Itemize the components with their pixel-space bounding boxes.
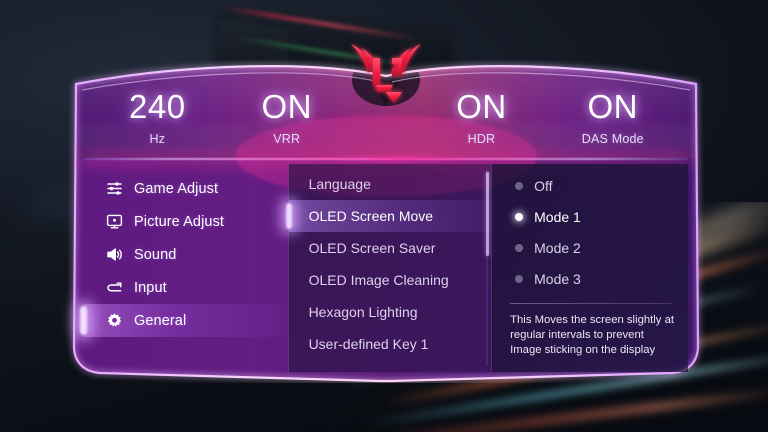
sidebar-item-input[interactable]: Input: [84, 271, 288, 304]
option-description-line: regular intervals to prevent: [510, 328, 674, 343]
option-label: Off: [534, 178, 552, 194]
sidebar-item-label: Game Adjust: [134, 181, 218, 197]
speaker-icon: [106, 246, 123, 263]
screenshot-root: 240 Hz ON VRR ON HDR ON DAS Mode: [0, 0, 768, 432]
status-value: 240: [92, 90, 223, 123]
plug-icon: [106, 279, 123, 296]
option-label: Mode 2: [534, 240, 581, 256]
sidebar-item-label: Sound: [134, 247, 176, 263]
sidebar-item-game-adjust[interactable]: Game Adjust: [84, 172, 288, 205]
monitor-icon: [106, 213, 123, 230]
list-item-label: OLED Screen Move: [309, 208, 434, 224]
option-mode-3[interactable]: Mode 3: [492, 263, 688, 294]
list-item[interactable]: OLED Image Cleaning: [289, 264, 492, 296]
options-panel: Off Mode 1 Mode 2 Mode 3: [491, 164, 688, 372]
sidebar-item-label: Picture Adjust: [134, 214, 224, 230]
list-item-label: User-defined Key 1: [309, 336, 429, 352]
status-label: HDR: [417, 132, 545, 146]
status-item-das-mode: ON DAS Mode: [546, 76, 681, 146]
sidebar-item-label: Input: [134, 280, 167, 296]
status-divider: [84, 158, 688, 160]
sidebar: Game Adjust Picture Adjust: [84, 164, 288, 372]
list-item-label: OLED Image Cleaning: [309, 272, 449, 288]
option-off[interactable]: Off: [492, 170, 688, 201]
status-value: ON: [417, 90, 545, 123]
osd-panel: 240 Hz ON VRR ON HDR ON DAS Mode: [62, 60, 710, 383]
option-label: Mode 3: [534, 271, 581, 287]
radio-icon: [515, 182, 523, 190]
list-item[interactable]: Language: [289, 168, 492, 200]
gear-icon: [106, 312, 123, 329]
sidebar-item-picture-adjust[interactable]: Picture Adjust: [84, 205, 288, 238]
status-value: ON: [546, 90, 681, 123]
sidebar-item-label: General: [134, 313, 186, 329]
option-description-line: Image sticking on the display: [510, 343, 674, 358]
status-item-vrr: ON VRR: [223, 76, 351, 146]
option-description-line: This Moves the screen slightly at: [510, 313, 674, 328]
list-item[interactable]: OLED Screen Move: [289, 200, 492, 232]
list-item[interactable]: User-defined Key 1: [289, 328, 492, 360]
list-item-label: Hexagon Lighting: [309, 304, 418, 320]
menu-list-scrollbar-thumb[interactable]: [486, 172, 489, 256]
radio-icon: [515, 275, 523, 283]
list-item-label: OLED Screen Saver: [309, 240, 436, 256]
status-label: DAS Mode: [546, 132, 681, 146]
menu-list: Language OLED Screen Move OLED Screen Sa…: [288, 164, 492, 372]
status-item-refresh-rate: 240 Hz: [92, 76, 223, 146]
sidebar-item-general[interactable]: General: [84, 304, 288, 337]
status-item-hdr: ON HDR: [417, 76, 545, 146]
sliders-icon: [106, 180, 123, 197]
list-item[interactable]: Hexagon Lighting: [289, 296, 492, 328]
menu-body: Game Adjust Picture Adjust: [84, 164, 688, 372]
status-value: ON: [223, 90, 351, 123]
option-description: This Moves the screen slightly at regula…: [492, 304, 688, 358]
status-label: Hz: [92, 132, 223, 146]
option-mode-2[interactable]: Mode 2: [492, 232, 688, 263]
lg-ultragear-logo: [349, 42, 423, 104]
list-item[interactable]: OLED Screen Saver: [289, 232, 492, 264]
radio-icon: [515, 244, 523, 252]
radio-icon: [515, 213, 523, 221]
option-label: Mode 1: [534, 209, 581, 225]
list-item-label: Language: [309, 176, 371, 192]
status-label: VRR: [223, 132, 351, 146]
sidebar-item-sound[interactable]: Sound: [84, 238, 288, 271]
option-mode-1[interactable]: Mode 1: [492, 201, 688, 232]
